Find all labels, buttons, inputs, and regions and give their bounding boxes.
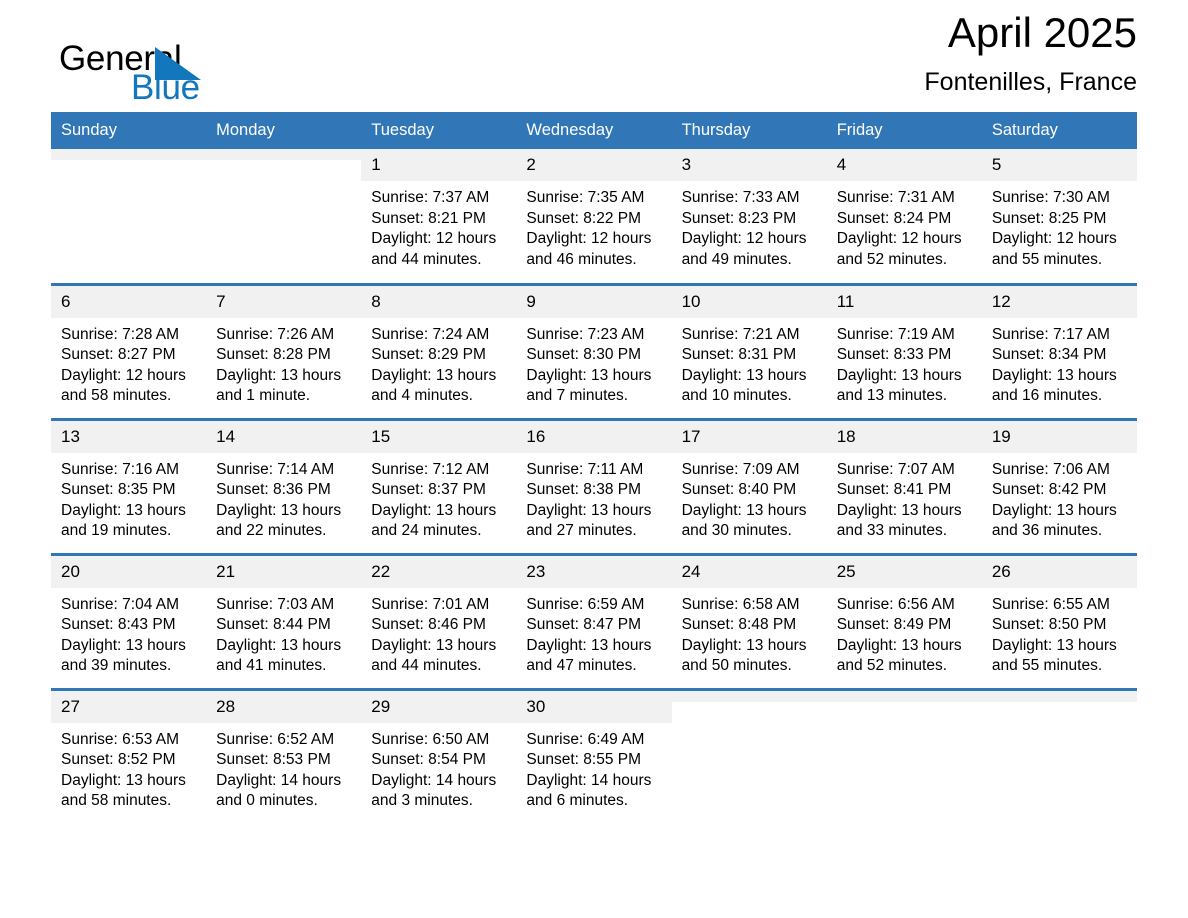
day-number: 10 [672,286,827,318]
day-cell-empty [672,689,827,824]
day-details: Sunrise: 7:03 AM Sunset: 8:44 PM Dayligh… [206,588,361,677]
day-details: Sunrise: 6:56 AM Sunset: 8:49 PM Dayligh… [827,588,982,677]
calendar-week-row: 1Sunrise: 7:37 AM Sunset: 8:21 PM Daylig… [51,149,1137,284]
day-details: Sunrise: 7:07 AM Sunset: 8:41 PM Dayligh… [827,453,982,542]
day-cell[interactable]: 26Sunrise: 6:55 AM Sunset: 8:50 PM Dayli… [982,554,1137,689]
day-cell[interactable]: 12Sunrise: 7:17 AM Sunset: 8:34 PM Dayli… [982,284,1137,419]
weekday-header-row: Sunday Monday Tuesday Wednesday Thursday… [51,112,1137,149]
day-cell[interactable]: 3Sunrise: 7:33 AM Sunset: 8:23 PM Daylig… [672,149,827,284]
day-cell[interactable]: 22Sunrise: 7:01 AM Sunset: 8:46 PM Dayli… [361,554,516,689]
weekday-header-monday: Monday [206,112,361,149]
page-title: April 2025 [924,8,1137,58]
day-details: Sunrise: 7:16 AM Sunset: 8:35 PM Dayligh… [51,453,206,542]
day-details: Sunrise: 6:53 AM Sunset: 8:52 PM Dayligh… [51,723,206,812]
day-details: Sunrise: 6:55 AM Sunset: 8:50 PM Dayligh… [982,588,1137,677]
title-block: April 2025 Fontenilles, France [924,8,1137,98]
day-number [982,691,1137,702]
day-cell-empty [982,689,1137,824]
day-number [206,149,361,160]
day-number: 23 [516,556,671,588]
weekday-header-tuesday: Tuesday [361,112,516,149]
day-details: Sunrise: 6:59 AM Sunset: 8:47 PM Dayligh… [516,588,671,677]
day-details: Sunrise: 7:28 AM Sunset: 8:27 PM Dayligh… [51,318,206,407]
day-number: 16 [516,421,671,453]
day-number: 27 [51,691,206,723]
day-number: 20 [51,556,206,588]
day-number: 14 [206,421,361,453]
day-details: Sunrise: 7:06 AM Sunset: 8:42 PM Dayligh… [982,453,1137,542]
day-details: Sunrise: 7:35 AM Sunset: 8:22 PM Dayligh… [516,181,671,270]
day-details: Sunrise: 7:04 AM Sunset: 8:43 PM Dayligh… [51,588,206,677]
day-details: Sunrise: 7:24 AM Sunset: 8:29 PM Dayligh… [361,318,516,407]
day-details: Sunrise: 7:31 AM Sunset: 8:24 PM Dayligh… [827,181,982,270]
day-number: 22 [361,556,516,588]
day-details: Sunrise: 7:11 AM Sunset: 8:38 PM Dayligh… [516,453,671,542]
day-number: 3 [672,149,827,181]
day-cell[interactable]: 19Sunrise: 7:06 AM Sunset: 8:42 PM Dayli… [982,419,1137,554]
day-details: Sunrise: 7:14 AM Sunset: 8:36 PM Dayligh… [206,453,361,542]
day-number: 18 [827,421,982,453]
day-details: Sunrise: 7:01 AM Sunset: 8:46 PM Dayligh… [361,588,516,677]
day-cell[interactable]: 16Sunrise: 7:11 AM Sunset: 8:38 PM Dayli… [516,419,671,554]
day-cell[interactable]: 20Sunrise: 7:04 AM Sunset: 8:43 PM Dayli… [51,554,206,689]
day-number: 28 [206,691,361,723]
day-cell[interactable]: 28Sunrise: 6:52 AM Sunset: 8:53 PM Dayli… [206,689,361,824]
day-number: 15 [361,421,516,453]
day-number: 5 [982,149,1137,181]
day-cell[interactable]: 6Sunrise: 7:28 AM Sunset: 8:27 PM Daylig… [51,284,206,419]
day-cell[interactable]: 5Sunrise: 7:30 AM Sunset: 8:25 PM Daylig… [982,149,1137,284]
day-cell[interactable]: 29Sunrise: 6:50 AM Sunset: 8:54 PM Dayli… [361,689,516,824]
day-details: Sunrise: 6:58 AM Sunset: 8:48 PM Dayligh… [672,588,827,677]
calendar-week-row: 20Sunrise: 7:04 AM Sunset: 8:43 PM Dayli… [51,554,1137,689]
calendar-body: 1Sunrise: 7:37 AM Sunset: 8:21 PM Daylig… [51,149,1137,824]
day-number [827,691,982,702]
day-cell[interactable]: 25Sunrise: 6:56 AM Sunset: 8:49 PM Dayli… [827,554,982,689]
day-number: 4 [827,149,982,181]
day-cell[interactable]: 18Sunrise: 7:07 AM Sunset: 8:41 PM Dayli… [827,419,982,554]
day-details: Sunrise: 7:21 AM Sunset: 8:31 PM Dayligh… [672,318,827,407]
day-number: 29 [361,691,516,723]
page-header: General Blue April 2025 Fontenilles, Fra… [51,0,1137,112]
day-number: 25 [827,556,982,588]
day-details: Sunrise: 7:26 AM Sunset: 8:28 PM Dayligh… [206,318,361,407]
day-number: 17 [672,421,827,453]
day-cell[interactable]: 13Sunrise: 7:16 AM Sunset: 8:35 PM Dayli… [51,419,206,554]
day-details: Sunrise: 7:33 AM Sunset: 8:23 PM Dayligh… [672,181,827,270]
calendar-week-row: 6Sunrise: 7:28 AM Sunset: 8:27 PM Daylig… [51,284,1137,419]
day-number: 19 [982,421,1137,453]
day-number: 7 [206,286,361,318]
day-cell[interactable]: 1Sunrise: 7:37 AM Sunset: 8:21 PM Daylig… [361,149,516,284]
day-details: Sunrise: 7:09 AM Sunset: 8:40 PM Dayligh… [672,453,827,542]
general-blue-logo: General Blue [51,40,381,112]
day-number: 1 [361,149,516,181]
day-cell[interactable]: 15Sunrise: 7:12 AM Sunset: 8:37 PM Dayli… [361,419,516,554]
day-cell[interactable]: 10Sunrise: 7:21 AM Sunset: 8:31 PM Dayli… [672,284,827,419]
weekday-header-sunday: Sunday [51,112,206,149]
day-number: 21 [206,556,361,588]
day-cell[interactable]: 4Sunrise: 7:31 AM Sunset: 8:24 PM Daylig… [827,149,982,284]
day-number: 26 [982,556,1137,588]
day-details: Sunrise: 6:50 AM Sunset: 8:54 PM Dayligh… [361,723,516,812]
day-number: 30 [516,691,671,723]
day-cell[interactable]: 27Sunrise: 6:53 AM Sunset: 8:52 PM Dayli… [51,689,206,824]
day-cell[interactable]: 8Sunrise: 7:24 AM Sunset: 8:29 PM Daylig… [361,284,516,419]
day-cell[interactable]: 11Sunrise: 7:19 AM Sunset: 8:33 PM Dayli… [827,284,982,419]
day-details: Sunrise: 7:17 AM Sunset: 8:34 PM Dayligh… [982,318,1137,407]
weekday-header-wednesday: Wednesday [516,112,671,149]
day-number [672,691,827,702]
day-details: Sunrise: 7:19 AM Sunset: 8:33 PM Dayligh… [827,318,982,407]
day-cell[interactable]: 24Sunrise: 6:58 AM Sunset: 8:48 PM Dayli… [672,554,827,689]
day-number: 24 [672,556,827,588]
day-details: Sunrise: 7:12 AM Sunset: 8:37 PM Dayligh… [361,453,516,542]
logo-text-blue: Blue [131,69,200,107]
sunrise-sunset-calendar: Sunday Monday Tuesday Wednesday Thursday… [51,112,1137,824]
calendar-page: General Blue April 2025 Fontenilles, Fra… [0,0,1188,918]
day-number: 9 [516,286,671,318]
calendar-week-row: 27Sunrise: 6:53 AM Sunset: 8:52 PM Dayli… [51,689,1137,824]
day-number: 11 [827,286,982,318]
day-details: Sunrise: 7:23 AM Sunset: 8:30 PM Dayligh… [516,318,671,407]
day-details: Sunrise: 6:52 AM Sunset: 8:53 PM Dayligh… [206,723,361,812]
weekday-header-saturday: Saturday [982,112,1137,149]
day-cell[interactable]: 23Sunrise: 6:59 AM Sunset: 8:47 PM Dayli… [516,554,671,689]
page-subtitle-location: Fontenilles, France [924,66,1137,98]
day-number: 12 [982,286,1137,318]
day-cell-empty [827,689,982,824]
day-number: 8 [361,286,516,318]
day-cell-empty [51,149,206,284]
day-details: Sunrise: 7:37 AM Sunset: 8:21 PM Dayligh… [361,181,516,270]
day-number: 6 [51,286,206,318]
day-cell[interactable]: 30Sunrise: 6:49 AM Sunset: 8:55 PM Dayli… [516,689,671,824]
day-cell[interactable]: 21Sunrise: 7:03 AM Sunset: 8:44 PM Dayli… [206,554,361,689]
weekday-header-friday: Friday [827,112,982,149]
day-cell[interactable]: 9Sunrise: 7:23 AM Sunset: 8:30 PM Daylig… [516,284,671,419]
day-cell[interactable]: 14Sunrise: 7:14 AM Sunset: 8:36 PM Dayli… [206,419,361,554]
day-details: Sunrise: 7:30 AM Sunset: 8:25 PM Dayligh… [982,181,1137,270]
day-number: 2 [516,149,671,181]
weekday-header-thursday: Thursday [672,112,827,149]
day-cell[interactable]: 7Sunrise: 7:26 AM Sunset: 8:28 PM Daylig… [206,284,361,419]
day-cell[interactable]: 17Sunrise: 7:09 AM Sunset: 8:40 PM Dayli… [672,419,827,554]
day-cell-empty [206,149,361,284]
day-cell[interactable]: 2Sunrise: 7:35 AM Sunset: 8:22 PM Daylig… [516,149,671,284]
calendar-week-row: 13Sunrise: 7:16 AM Sunset: 8:35 PM Dayli… [51,419,1137,554]
day-details: Sunrise: 6:49 AM Sunset: 8:55 PM Dayligh… [516,723,671,812]
day-number: 13 [51,421,206,453]
day-number [51,149,206,160]
